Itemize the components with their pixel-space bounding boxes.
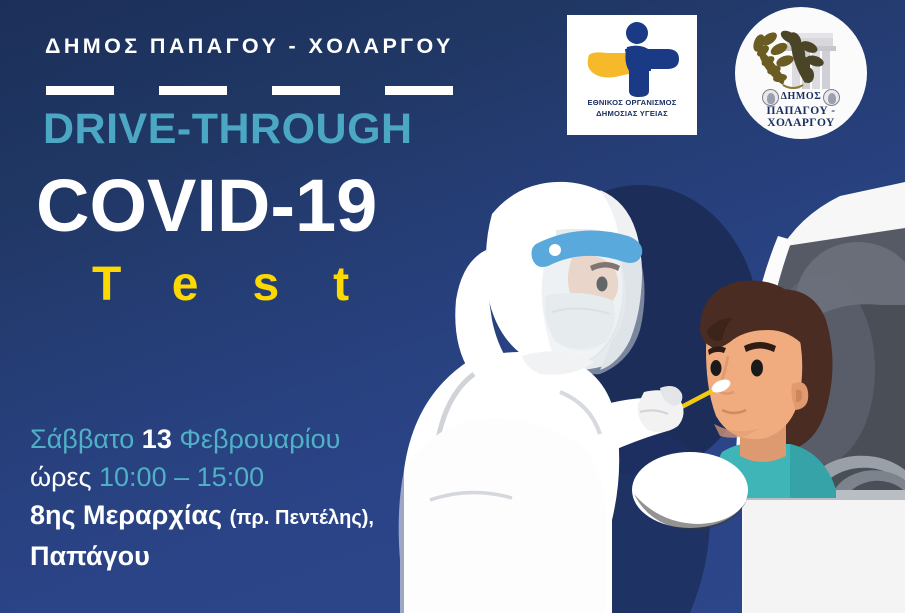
page-title: COVID-19 <box>36 163 377 248</box>
subtitle-test: Test <box>92 257 403 312</box>
face-shield-band-rivet <box>549 244 561 256</box>
patient-eye-near <box>751 360 763 377</box>
car-door-panel <box>744 500 905 613</box>
eody-figure-icon <box>567 21 697 97</box>
poster-canvas: ΔΗΜΟΣ ΠΑΠΑΓΟΥ - ΧΟΛΑΡΓΟΥ DRIVE-THROUGH C… <box>0 0 905 613</box>
kicker-title: DRIVE-THROUGH <box>43 105 413 154</box>
seal-caption-top: ΔΗΜΟΣ <box>735 91 867 102</box>
hours-label: ώρες <box>30 462 92 492</box>
hours-value: 10:00 – 15:00 <box>99 462 264 492</box>
address-street: 8ης Μεραρχίας <box>30 500 222 530</box>
eody-caption: ΕΘΝΙΚΟΣ ΟΡΓΑΝΙΣΜΟΣ ΔΗΜΟΣΙΑΣ ΥΓΕΙΑΣ <box>567 97 697 119</box>
divider-dash <box>46 86 114 95</box>
address-note: (πρ. Πεντέλης), <box>230 507 374 529</box>
divider-dashes <box>46 86 453 95</box>
eody-logo: ΕΘΝΙΚΟΣ ΟΡΓΑΝΙΣΜΟΣ ΔΗΜΟΣΙΑΣ ΥΓΕΙΑΣ <box>567 15 697 135</box>
divider-dash <box>385 86 453 95</box>
date-day: 13 <box>142 424 172 454</box>
date-prefix: Σάββατο <box>30 424 134 454</box>
municipality-heading: ΔΗΜΟΣ ΠΑΠΑΓΟΥ - ΧΟΛΑΡΓΟΥ <box>45 34 454 59</box>
address-area-line: Παπάγου <box>30 537 450 575</box>
divider-dash <box>272 86 340 95</box>
date-line: Σάββατο 13 Φεβρουαρίου <box>30 420 450 458</box>
municipality-seal-logo: ΔΗΜΟΣ ΠΑΠΑΓΟΥ - ΧΟΛΑΡΓΟΥ <box>735 7 867 139</box>
eody-caption-line1: ΕΘΝΙΚΟΣ ΟΡΓΑΝΙΣΜΟΣ <box>567 97 697 108</box>
address-line: 8ης Μεραρχίας (πρ. Πεντέλης), <box>30 496 450 537</box>
eody-head-dot <box>626 22 648 44</box>
event-details: Σάββατο 13 Φεβρουαρίου ώρες 10:00 – 15:0… <box>30 420 450 575</box>
eody-caption-line2: ΔΗΜΟΣΙΑΣ ΥΓΕΙΑΣ <box>567 108 697 119</box>
patient-eye-far <box>711 360 722 376</box>
eody-blue-shoulder <box>625 46 651 71</box>
divider-dash <box>159 86 227 95</box>
date-month: Φεβρουαρίου <box>179 424 340 454</box>
seal-caption-bottom: ΠΑΠΑΓΟΥ - ΧΟΛΑΡΓΟΥ <box>735 105 867 129</box>
hours-line: ώρες 10:00 – 15:00 <box>30 458 450 496</box>
